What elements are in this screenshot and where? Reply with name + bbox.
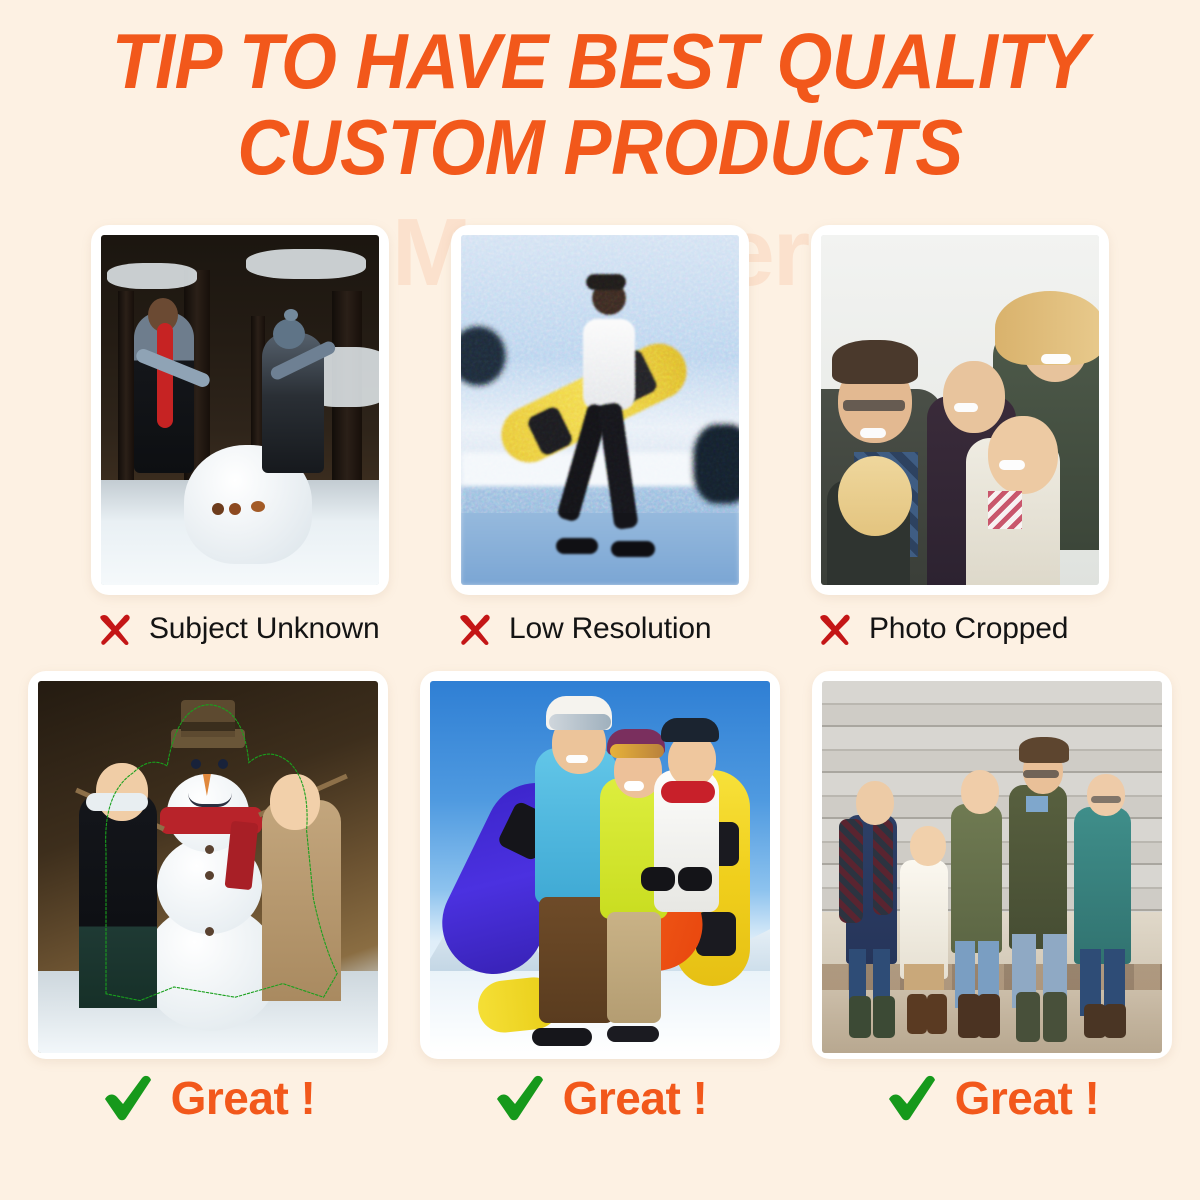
check-icon: [885, 1071, 939, 1125]
photo-card: [451, 225, 749, 595]
caption-great-snowboarders: Great !: [420, 1059, 780, 1133]
noise-overlay: [461, 235, 739, 513]
photo-subject-unknown: [101, 235, 379, 585]
title-line-1: TIP TO HAVE BEST QUALITY: [48, 18, 1152, 104]
example-label: Great !: [563, 1071, 708, 1125]
example-great-family: Great !: [812, 671, 1172, 1133]
photo-card: [420, 671, 780, 1059]
photo-great-family: [822, 681, 1162, 1053]
bad-examples-row: Subject Unknown: [0, 225, 1200, 649]
photo-great-snowman: [38, 681, 378, 1053]
title-line-2: CUSTOM PRODUCTS: [48, 104, 1152, 190]
example-label: Low Resolution: [509, 612, 711, 646]
photo-great-snowboarders: [430, 681, 770, 1053]
cross-icon: [815, 609, 855, 649]
example-label: Subject Unknown: [149, 612, 379, 646]
caption-great-family: Great !: [812, 1059, 1172, 1133]
check-icon: [101, 1071, 155, 1125]
example-label: Great !: [955, 1071, 1100, 1125]
caption-subject-unknown: Subject Unknown: [91, 609, 389, 649]
cutout-selection-path: [38, 681, 378, 1021]
caption-great-snowman: Great !: [28, 1059, 388, 1133]
check-icon: [493, 1071, 547, 1125]
photo-card: [812, 671, 1172, 1059]
photo-photo-cropped: [821, 235, 1099, 585]
page-title: TIP TO HAVE BEST QUALITY CUSTOM PRODUCTS: [0, 18, 1200, 190]
example-label: Great !: [171, 1071, 316, 1125]
photo-low-resolution: [461, 235, 739, 585]
example-great-snowboarders: Great !: [420, 671, 780, 1133]
caption-low-resolution: Low Resolution: [451, 609, 749, 649]
example-photo-cropped: Photo Cropped: [811, 225, 1109, 649]
photo-card: [811, 225, 1109, 595]
good-examples-row: Great !: [0, 671, 1200, 1133]
photo-card: [28, 671, 388, 1059]
cross-icon: [95, 609, 135, 649]
cross-icon: [455, 609, 495, 649]
photo-card: [91, 225, 389, 595]
examples-grid: Subject Unknown: [0, 225, 1200, 1133]
example-subject-unknown: Subject Unknown: [91, 225, 389, 649]
example-great-snowman: Great !: [28, 671, 388, 1133]
example-low-resolution: Low Resolution: [451, 225, 749, 649]
caption-photo-cropped: Photo Cropped: [811, 609, 1109, 649]
example-label: Photo Cropped: [869, 612, 1068, 646]
